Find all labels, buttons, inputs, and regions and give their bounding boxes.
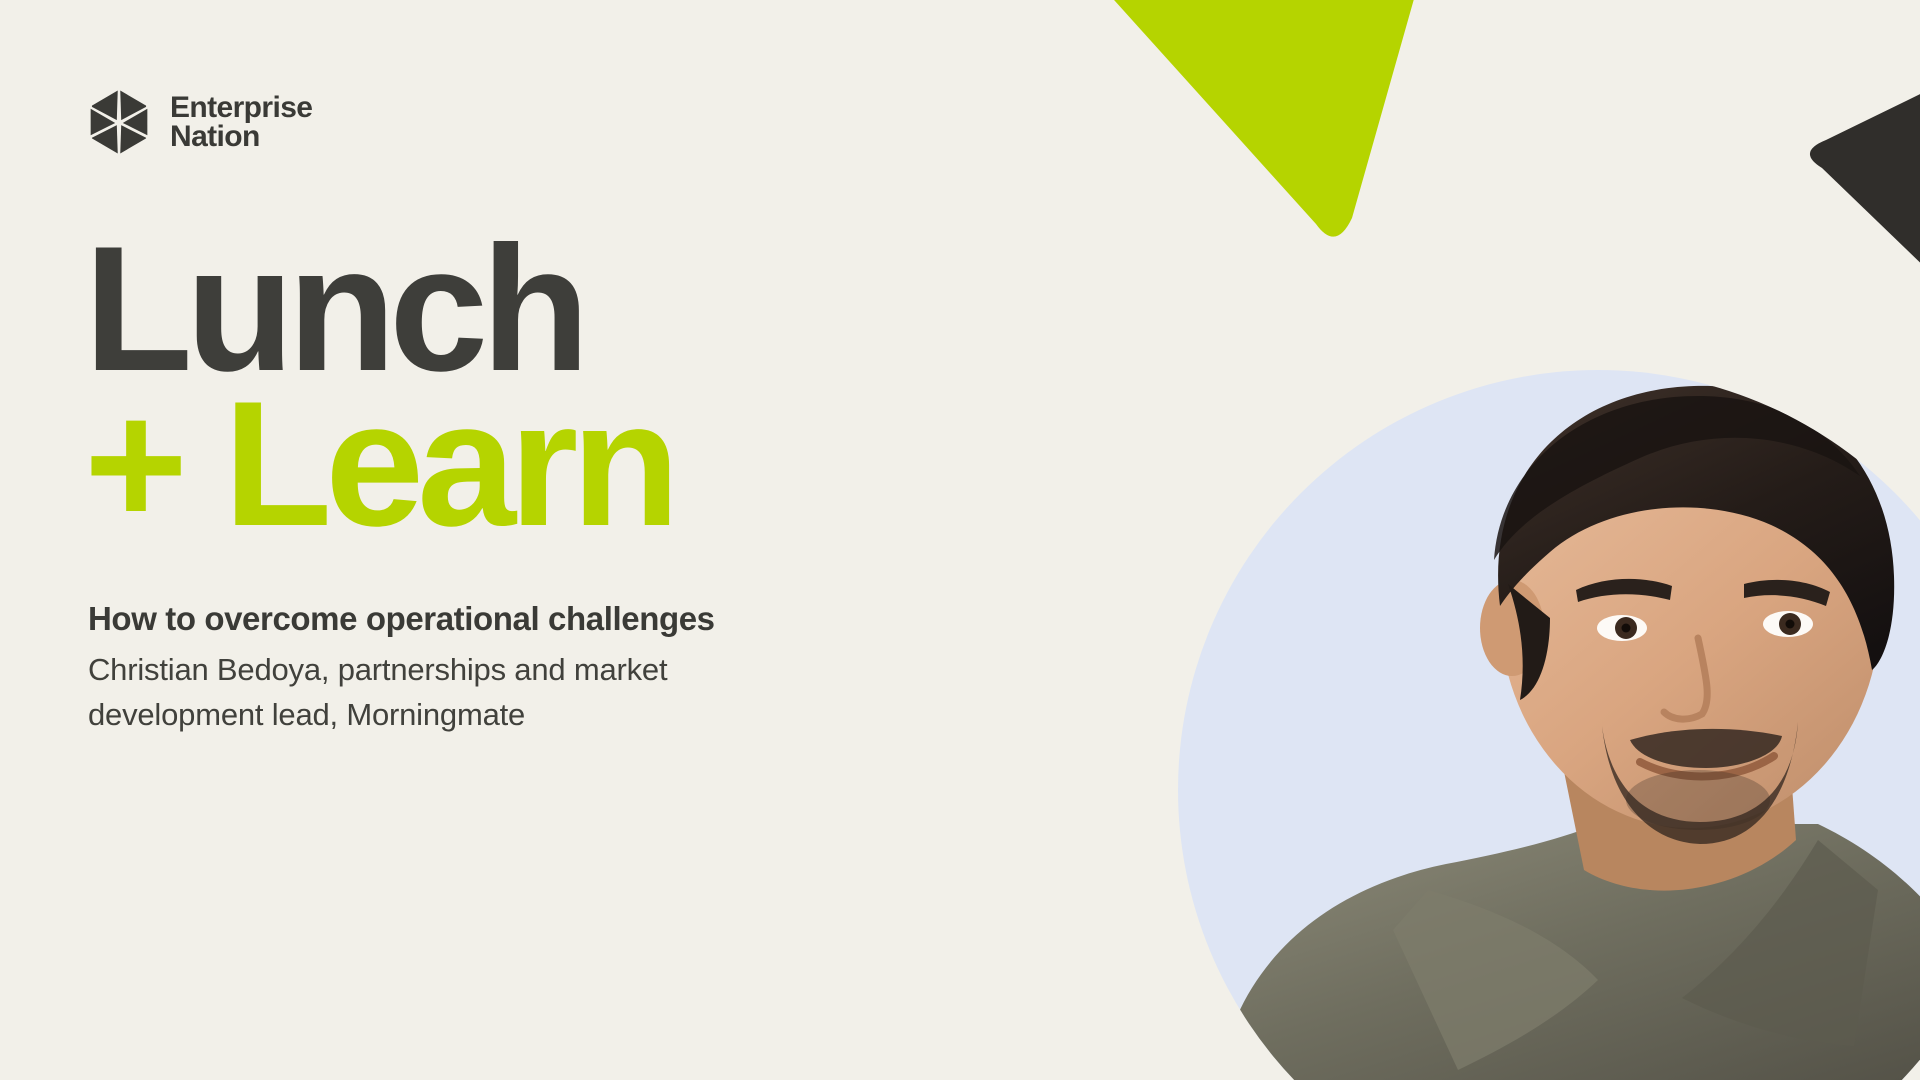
slide-canvas: Enterprise Nation Lunch + Learn How to o… <box>0 0 1920 1080</box>
speaker-credit-line2: development lead, Morningmate <box>88 693 918 738</box>
brand-wordmark: Enterprise Nation <box>170 93 312 152</box>
speaker-portrait-photo <box>1178 370 1920 1080</box>
green-triangle-shape <box>1078 0 1425 237</box>
speaker-portrait <box>1178 370 1920 1080</box>
brand-logo: Enterprise Nation <box>87 88 312 156</box>
speaker-credit: Christian Bedoya, partnerships and marke… <box>88 648 918 738</box>
brand-name-line1: Enterprise <box>170 93 312 122</box>
session-details: How to overcome operational challenges C… <box>88 600 918 738</box>
enterprise-nation-hexagon-icon <box>87 88 151 156</box>
dark-triangle-shape <box>1810 60 1920 330</box>
brand-name-line2: Nation <box>170 122 312 151</box>
page-title: Lunch + Learn <box>84 232 673 542</box>
speaker-credit-line1: Christian Bedoya, partnerships and marke… <box>88 648 918 693</box>
headline-line-learn: + Learn <box>84 387 673 542</box>
portrait-photo-clip <box>1178 370 1920 1080</box>
session-title: How to overcome operational challenges <box>88 600 918 639</box>
